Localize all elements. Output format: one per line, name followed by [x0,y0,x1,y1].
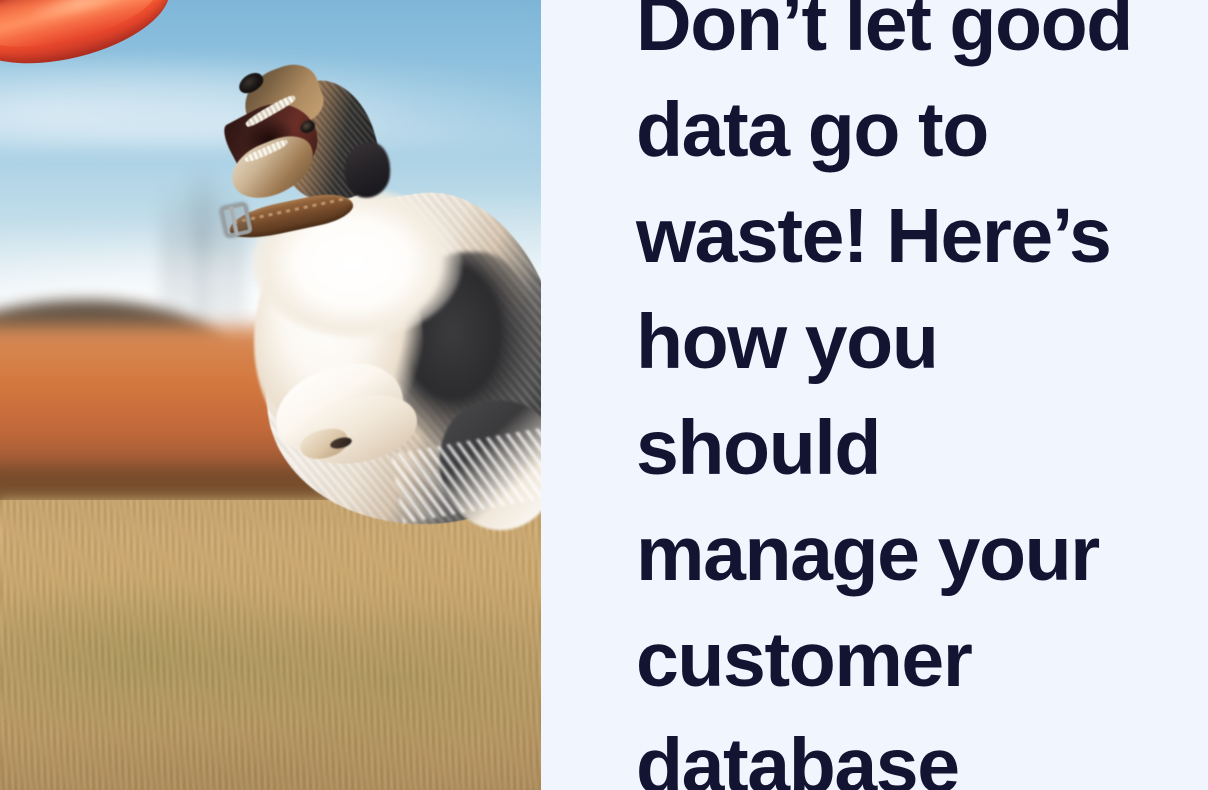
dog [0,0,541,790]
hero-text-panel: Don’t let good data go to waste! Here’s … [541,0,1208,790]
article-hero: Don’t let good data go to waste! Here’s … [0,0,1208,790]
photo-stage [0,0,541,790]
hero-photo [0,0,541,790]
article-headline: Don’t let good data go to waste! Here’s … [636,0,1166,790]
